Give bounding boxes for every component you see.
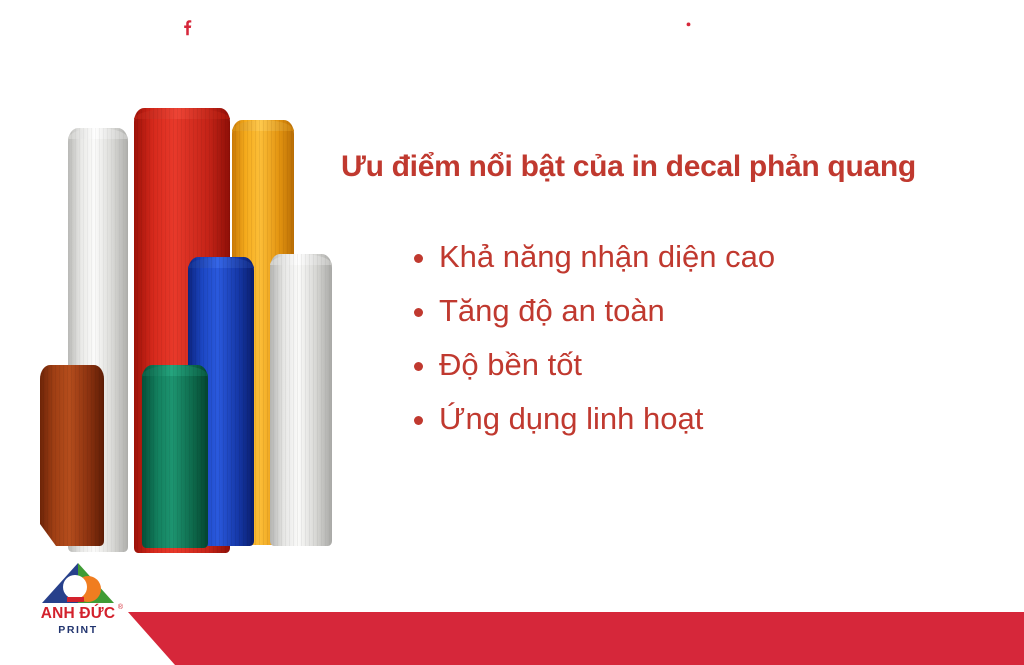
bullet-dot-icon (414, 254, 423, 263)
benefit-label: Độ bền tốt (439, 347, 582, 382)
content-column: Ưu điểm nổi bật của in decal phản quang … (335, 150, 1005, 446)
contact-label: fb.com/anhducprints (206, 19, 337, 35)
roll-top-edge (232, 120, 294, 131)
contact-label: 36 Phan Châu Trinh, TP. Đà Nẵng (707, 19, 926, 35)
roll-top-edge (188, 257, 254, 268)
logo-triangle-icon (41, 562, 115, 604)
bullet-dot-icon (414, 416, 423, 425)
logo-name: ANH ĐỨC ® (41, 605, 116, 623)
contact-phone[interactable]: 0766 56 54 56 (508, 17, 629, 36)
roll-sheen (40, 365, 104, 546)
benefit-label: Khả năng nhận diện cao (439, 239, 775, 274)
roll-brown (40, 365, 104, 546)
roll-top-edge (142, 365, 208, 376)
roll-top-edge (270, 254, 332, 265)
contact-website[interactable]: adprint.vn (381, 17, 473, 36)
benefits-list: Khả năng nhận diện cao Tăng độ an toàn Đ… (335, 230, 1005, 446)
logo-tagline: PRINT (26, 624, 130, 636)
page-title: Ưu điểm nổi bật của in decal phản quang (341, 150, 1005, 184)
list-item: Độ bền tốt (439, 338, 1005, 392)
benefit-label: Tăng độ an toàn (439, 293, 665, 328)
benefit-label: Ứng dụng linh hoạt (439, 401, 703, 436)
promo-banner: Ưu điểm nổi bật của in decal phản quang … (0, 0, 1024, 665)
logo-name-text: ANH ĐỨC (41, 605, 116, 622)
roll-sheen (142, 365, 208, 548)
list-item: Khả năng nhận diện cao (439, 230, 1005, 284)
list-item: Tăng độ an toàn (439, 284, 1005, 338)
roll-top-edge (40, 365, 104, 376)
product-image-rolls (0, 0, 350, 600)
bullet-dot-icon (414, 308, 423, 317)
list-item: Ứng dụng linh hoạt (439, 392, 1005, 446)
roll-silver-right (270, 254, 332, 546)
brand-logo: ANH ĐỨC ® PRINT (26, 562, 130, 636)
contact-label: adprint.vn (409, 19, 473, 35)
globe-icon (381, 17, 400, 36)
facebook-icon (178, 17, 197, 36)
footer-bar (0, 612, 1024, 665)
registered-mark-icon: ® (118, 604, 123, 611)
phone-icon (508, 17, 527, 36)
contact-label: 0766 56 54 56 (536, 19, 629, 35)
roll-top-edge (134, 108, 230, 119)
contact-address[interactable]: 36 Phan Châu Trinh, TP. Đà Nẵng (679, 17, 926, 36)
roll-top-edge (68, 128, 128, 139)
roll-green (142, 365, 208, 548)
roll-sheen (270, 254, 332, 546)
location-pin-icon (679, 17, 698, 36)
contact-facebook[interactable]: fb.com/anhducprints (178, 17, 337, 36)
footer-contacts: fb.com/anhducprints adprint.vn (178, 0, 1024, 53)
bullet-dot-icon (414, 362, 423, 371)
